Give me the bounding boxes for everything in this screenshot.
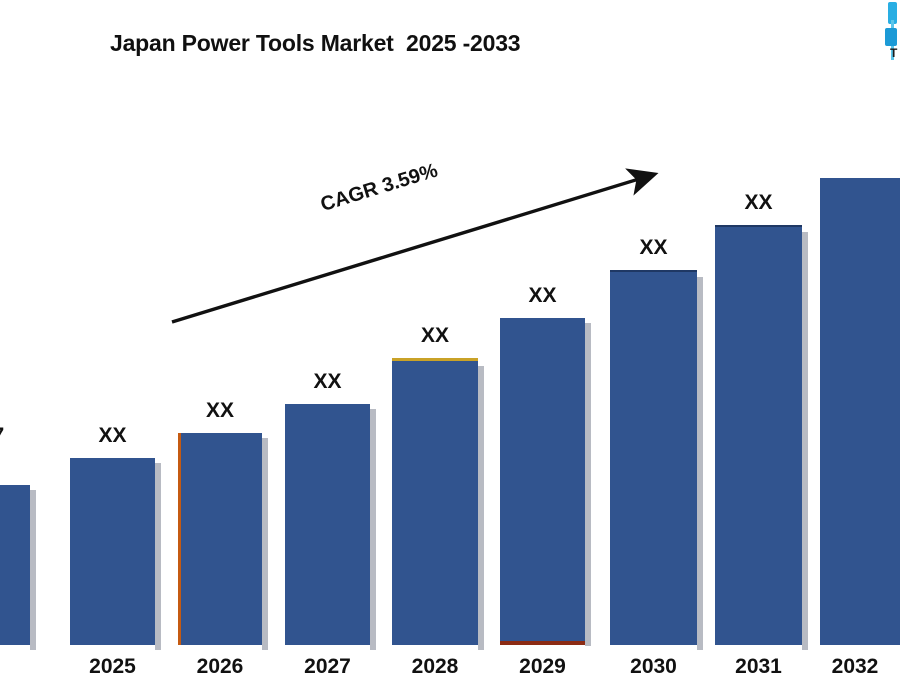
bar-value-label-2027: XX xyxy=(285,370,370,394)
x-axis-label-2026: 2026 xyxy=(178,655,262,679)
bar-value-label-2026: XX xyxy=(178,399,262,423)
x-axis-label-2030: 2030 xyxy=(610,655,697,679)
bar-2030[interactable] xyxy=(610,270,697,645)
chart-canvas: Japan Power Tools Market 2025 -2033 T 22… xyxy=(0,0,900,700)
bar-2029[interactable] xyxy=(500,318,585,645)
bar-chart-plot-area: 222.27MnXXXXXXXXXXXXXX420252026202720282… xyxy=(0,0,900,700)
bar-value-label-2030: XX xyxy=(610,236,697,260)
bar-value-label-2028: XX xyxy=(392,324,478,348)
x-axis-label-4: 4 xyxy=(0,655,30,679)
x-axis-label-2032: 2032 xyxy=(812,655,898,679)
bar-2024[interactable] xyxy=(0,485,30,645)
x-axis-label-2028: 2028 xyxy=(392,655,478,679)
bar-value-label-2025: XX xyxy=(70,424,155,448)
bar-value-label-2029: XX xyxy=(500,284,585,308)
bar-2032[interactable] xyxy=(820,178,900,645)
bar-2026[interactable] xyxy=(178,433,262,645)
bar-value-label-2024: 222.27Mn xyxy=(0,423,4,476)
x-axis-label-2025: 2025 xyxy=(70,655,155,679)
bar-2025[interactable] xyxy=(70,458,155,645)
x-axis-label-2029: 2029 xyxy=(500,655,585,679)
x-axis-label-2027: 2027 xyxy=(285,655,370,679)
bar-2031[interactable] xyxy=(715,225,802,645)
bar-value-label-2031: XX xyxy=(715,191,802,215)
bar-value-unit-2024: Mn xyxy=(0,449,4,475)
bar-2028[interactable] xyxy=(392,358,478,645)
x-axis-label-2031: 2031 xyxy=(715,655,802,679)
bar-2027[interactable] xyxy=(285,404,370,645)
